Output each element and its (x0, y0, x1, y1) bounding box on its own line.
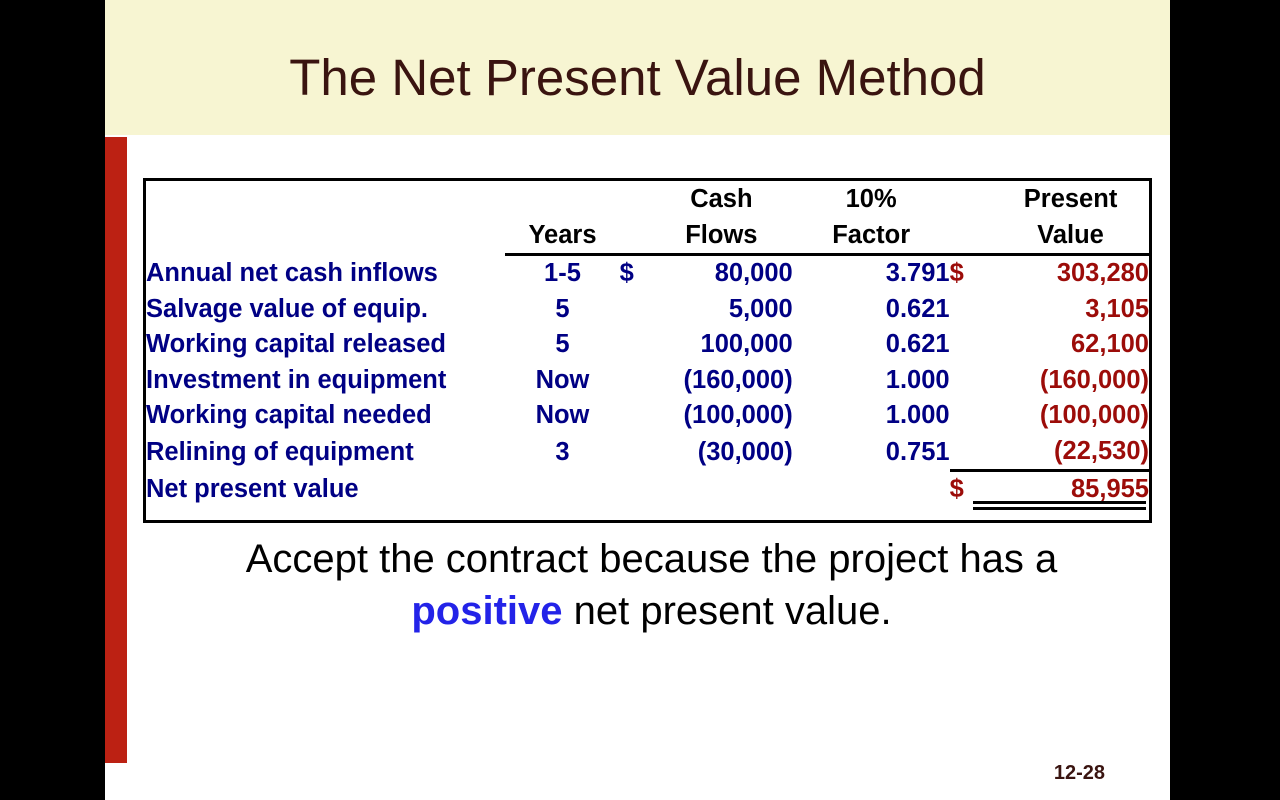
header-pv-symbol-top (950, 181, 993, 217)
row-factor: 1.000 (793, 363, 950, 399)
total-cash-flow (650, 471, 793, 508)
header-cash-symbol-top (620, 181, 650, 217)
table-header-row-2: Years Flows Factor Value (146, 217, 1149, 255)
row-pv-symbol (950, 363, 993, 399)
row-years: Now (505, 398, 619, 434)
row-cash-flow-symbol (620, 363, 650, 399)
table-row: Working capital released 5 100,000 0.621… (146, 327, 1149, 363)
row-years: 5 (505, 327, 619, 363)
row-pv-symbol (950, 292, 993, 328)
header-pv-symbol (950, 217, 993, 255)
row-cash-flow: 5,000 (650, 292, 793, 328)
header-present-value-line2: Value (992, 217, 1149, 255)
caption-emphasis: positive (411, 589, 562, 633)
row-label: Working capital released (146, 327, 505, 363)
row-cash-flow-symbol (620, 434, 650, 471)
row-factor: 3.791 (793, 255, 950, 292)
header-blank (146, 181, 505, 217)
slide-canvas: The Net Present Value Method Cash 10% Pr… (105, 0, 1170, 800)
row-cash-flow-symbol: $ (620, 255, 650, 292)
npv-table-container: Cash 10% Present Years Flows Factor Valu… (143, 178, 1152, 523)
header-present-value-line1: Present (992, 181, 1149, 217)
row-years: Now (505, 363, 619, 399)
table-row: Working capital needed Now (100,000) 1.0… (146, 398, 1149, 434)
row-present-value: (160,000) (992, 363, 1149, 399)
row-factor: 0.751 (793, 434, 950, 471)
header-factor-line1: 10% (793, 181, 950, 217)
caption-line-1: Accept the contract because the project … (246, 537, 1058, 581)
row-cash-flow: 100,000 (650, 327, 793, 363)
header-cash-symbol (620, 217, 650, 255)
row-cash-flow: (30,000) (650, 434, 793, 471)
title-band: The Net Present Value Method (105, 0, 1170, 135)
header-cash-flows-line2: Flows (650, 217, 793, 255)
row-factor: 1.000 (793, 398, 950, 434)
row-cash-flow-symbol (620, 292, 650, 328)
row-cash-flow: (160,000) (650, 363, 793, 399)
row-label: Investment in equipment (146, 363, 505, 399)
table-header-row-1: Cash 10% Present (146, 181, 1149, 217)
row-years: 3 (505, 434, 619, 471)
header-factor-line2: Factor (793, 217, 950, 255)
row-present-value: 62,100 (992, 327, 1149, 363)
header-years-top (505, 181, 619, 217)
row-label: Relining of equipment (146, 434, 505, 471)
slide-number: 12-28 (105, 762, 1170, 785)
header-blank-2 (146, 217, 505, 255)
header-cash-flows-line1: Cash (650, 181, 793, 217)
caption-line-2-tail: net present value. (563, 589, 892, 633)
total-label: Net present value (146, 471, 505, 508)
row-cash-flow-symbol (620, 398, 650, 434)
row-label: Annual net cash inflows (146, 255, 505, 292)
row-pv-symbol: $ (950, 255, 993, 292)
row-present-value: (100,000) (992, 398, 1149, 434)
accent-bar (105, 137, 127, 763)
row-years: 5 (505, 292, 619, 328)
row-pv-symbol (950, 327, 993, 363)
row-cash-flow: (100,000) (650, 398, 793, 434)
row-present-value: (22,530) (992, 434, 1149, 471)
row-pv-symbol (950, 398, 993, 434)
total-cash-flow-symbol (620, 471, 650, 508)
conclusion-caption: Accept the contract because the project … (105, 533, 1170, 637)
row-label: Working capital needed (146, 398, 505, 434)
total-years (505, 471, 619, 508)
total-factor (793, 471, 950, 508)
row-present-value: 3,105 (992, 292, 1149, 328)
table-row: Annual net cash inflows 1-5 $ 80,000 3.7… (146, 255, 1149, 292)
row-cash-flow: 80,000 (650, 255, 793, 292)
row-pv-symbol (950, 434, 993, 471)
table-row: Investment in equipment Now (160,000) 1.… (146, 363, 1149, 399)
table-row: Salvage value of equip. 5 5,000 0.621 3,… (146, 292, 1149, 328)
row-label: Salvage value of equip. (146, 292, 505, 328)
row-factor: 0.621 (793, 292, 950, 328)
total-double-underline (973, 501, 1146, 510)
header-years: Years (505, 217, 619, 255)
npv-table: Cash 10% Present Years Flows Factor Valu… (146, 181, 1149, 508)
row-factor: 0.621 (793, 327, 950, 363)
row-years: 1-5 (505, 255, 619, 292)
page-title: The Net Present Value Method (105, 0, 1170, 135)
row-cash-flow-symbol (620, 327, 650, 363)
row-present-value: 303,280 (992, 255, 1149, 292)
table-row: Relining of equipment 3 (30,000) 0.751 (… (146, 434, 1149, 471)
